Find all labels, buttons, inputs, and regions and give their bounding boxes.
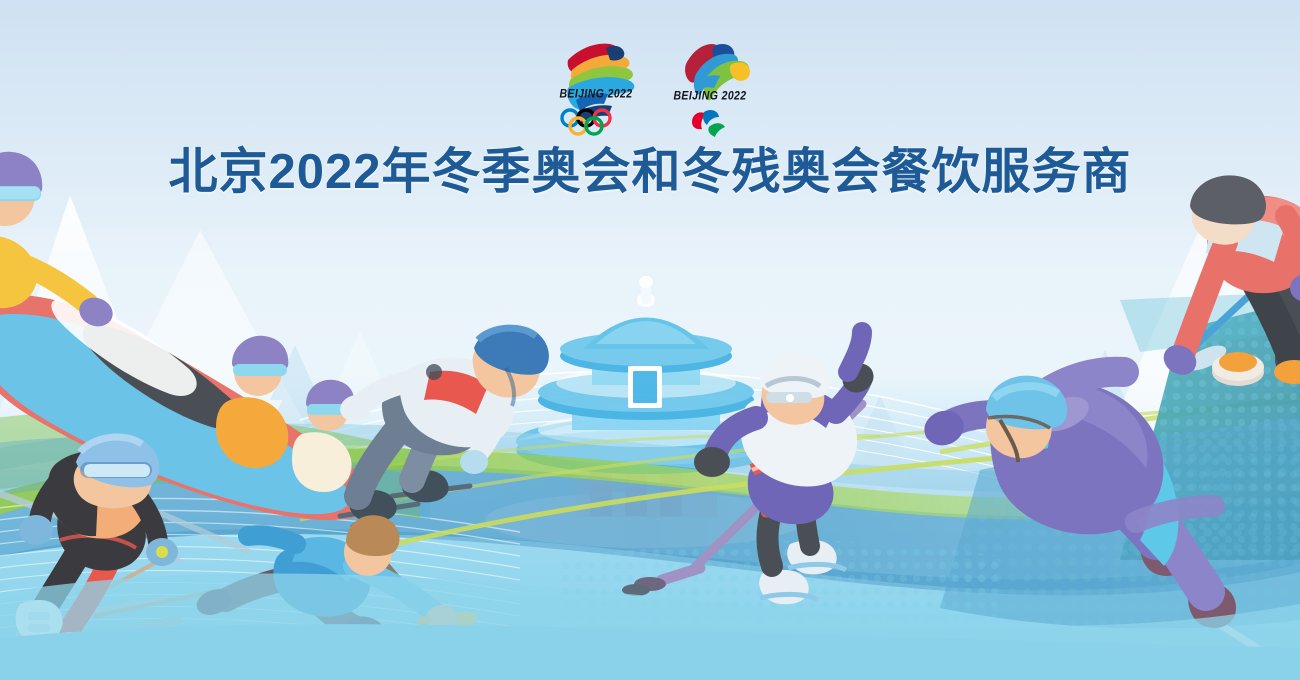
banner-title: 北京2022年冬季奥会和冬残奥会餐饮服务商 <box>0 146 1300 199</box>
paralympic-emblem: BEIJING 2022 <box>662 30 758 138</box>
paralympic-wordmark: BEIJING 2022 <box>662 89 758 102</box>
beijing-2022-banner: BEIJING 2022 BEIJING 2022 <box>0 0 1300 680</box>
agitos <box>692 110 725 137</box>
olympic-wordmark: BEIJING 2022 <box>548 87 644 100</box>
emblem-group: BEIJING 2022 BEIJING 2022 <box>548 30 758 138</box>
olympic-emblem: BEIJING 2022 <box>548 30 644 138</box>
curling-stone-right <box>1212 352 1264 386</box>
